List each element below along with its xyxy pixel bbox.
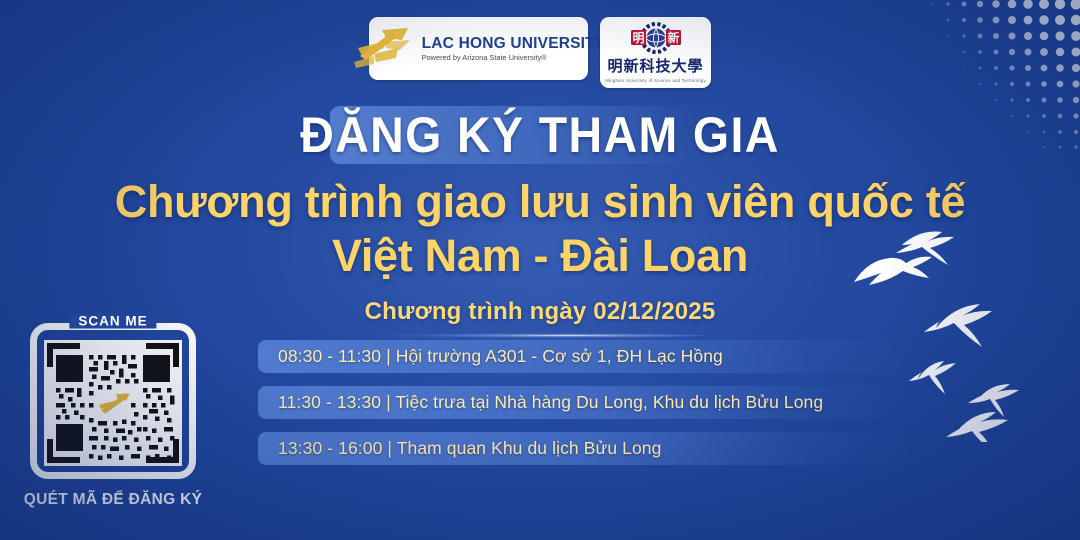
scan-me-badge: SCAN ME [69,314,156,329]
lac-hong-name: LAC HONG UNIVERSITY [422,36,606,52]
schedule-list: 08:30 - 11:30 | Hội trường A301 - Cơ sở … [258,340,918,478]
subtitle-line-2: Việt Nam - Đài Loan [0,229,1080,283]
schedule-item-text: 13:30 - 16:00 | Tham quan Khu du lịch Bử… [258,438,661,459]
svg-text:明: 明 [632,31,644,45]
qr-code-icon[interactable] [44,340,182,466]
event-date: Chương trình ngày 02/12/2025 [0,298,1080,326]
lac-hong-bird-icon [352,26,418,72]
page-title: ĐĂNG KÝ THAM GIA [38,108,1042,162]
event-banner: LAC HONG UNIVERSITY Powered by Arizona S… [0,0,1080,540]
minghsin-gear-globe-icon: 明 新 [621,22,691,54]
lac-hong-university-logo: LAC HONG UNIVERSITY Powered by Arizona S… [369,17,588,80]
minghsin-name-en: Minghsin University of Science and Techn… [605,78,706,83]
lac-hong-logo-text: LAC HONG UNIVERSITY Powered by Arizona S… [422,36,606,62]
logo-row: LAC HONG UNIVERSITY Powered by Arizona S… [0,17,1080,88]
minghsin-university-logo: 明 新 明新科技大學 Minghsin University of Scienc… [600,17,711,88]
svg-text:新: 新 [667,30,679,45]
qr-caption: QUÉT MÃ ĐỂ ĐĂNG KÝ [18,491,208,509]
schedule-item-text: 11:30 - 13:30 | Tiệc trưa tại Nhà hàng D… [258,392,823,413]
subtitle: Chương trình giao lưu sinh viên quốc tế … [0,175,1080,283]
list-item: 13:30 - 16:00 | Tham quan Khu du lịch Bử… [258,432,918,465]
qr-frame: SCAN ME [30,323,196,479]
minghsin-name-cn: 明新科技大學 [607,55,703,76]
list-item: 08:30 - 11:30 | Hội trường A301 - Cơ sở … [258,340,918,373]
qr-registration-block[interactable]: SCAN ME [18,323,208,509]
subtitle-line-1: Chương trình giao lưu sinh viên quốc tế [115,176,965,227]
list-item: 11:30 - 13:30 | Tiệc trưa tại Nhà hàng D… [258,386,918,419]
light-streak [374,333,704,338]
lac-hong-tagline: Powered by Arizona State University® [422,54,547,61]
schedule-item-text: 08:30 - 11:30 | Hội trường A301 - Cơ sở … [258,346,723,367]
